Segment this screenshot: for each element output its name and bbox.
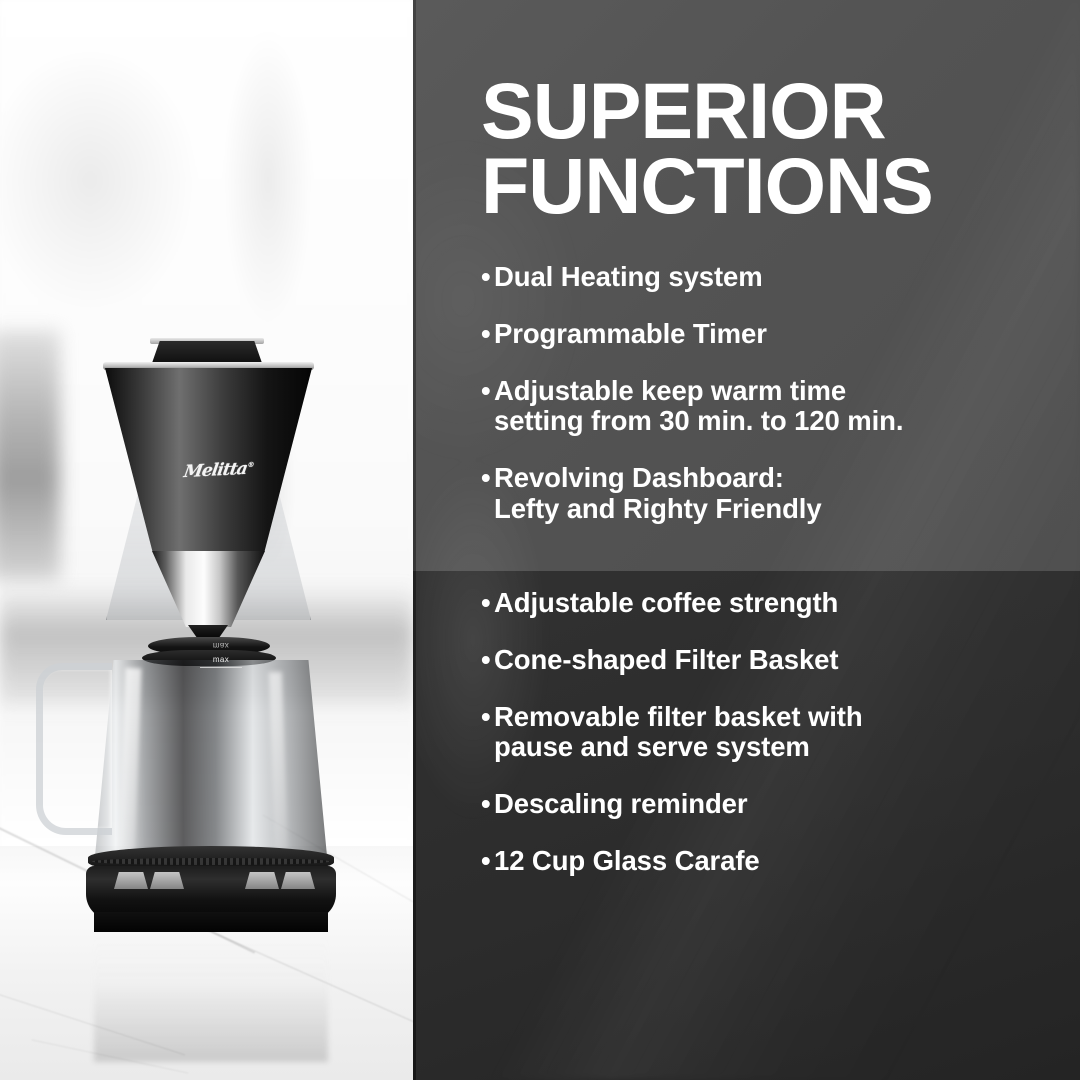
feature-list-item-line: Adjustable keep warm time bbox=[494, 376, 1061, 407]
feature-list-item-line: pause and serve system bbox=[494, 732, 1061, 763]
product-brand-logo-text: Melitta bbox=[182, 459, 248, 482]
carafe-handle bbox=[36, 663, 112, 835]
product-reflection bbox=[94, 932, 328, 1062]
page-title: SUPERIOR FUNCTIONS bbox=[481, 73, 1041, 223]
product-brand-logo-mark: ® bbox=[247, 460, 254, 469]
carafe-max-line bbox=[200, 667, 242, 668]
bullet-dot-icon: • bbox=[481, 588, 494, 619]
feature-list-item: •Cone-shaped Filter Basket bbox=[481, 645, 1061, 676]
control-button bbox=[245, 872, 279, 889]
feature-list-group-1: •Dual Heating system•Programmable Timer•… bbox=[481, 262, 1061, 525]
features-panel: SUPERIOR FUNCTIONS •Dual Heating system•… bbox=[413, 0, 1080, 1080]
control-button bbox=[150, 872, 184, 889]
control-button bbox=[114, 872, 148, 889]
bullet-dot-icon: • bbox=[481, 376, 494, 407]
feature-list-item-text: Dual Heating system bbox=[494, 262, 1061, 293]
coffee-maker: Melitta® max max bbox=[0, 0, 413, 1080]
carafe-max-marking: max bbox=[200, 655, 242, 664]
base-foot bbox=[94, 912, 328, 932]
feature-list-item-line: Lefty and Righty Friendly bbox=[494, 494, 1061, 525]
feature-list-item-text: Cone-shaped Filter Basket bbox=[494, 645, 1061, 676]
bullet-dot-icon: • bbox=[481, 645, 494, 676]
bullet-dot-icon: • bbox=[481, 262, 494, 293]
feature-list-item-line: 12 Cup Glass Carafe bbox=[494, 846, 1061, 877]
bullet-dot-icon: • bbox=[481, 463, 494, 494]
product-feature-poster: Melitta® max max bbox=[0, 0, 1080, 1080]
features-content: SUPERIOR FUNCTIONS •Dual Heating system•… bbox=[413, 0, 1080, 1080]
feature-list-item-text: 12 Cup Glass Carafe bbox=[494, 846, 1061, 877]
feature-list-item-text: Removable filter basket withpause and se… bbox=[494, 702, 1061, 764]
page-title-line-2: FUNCTIONS bbox=[481, 148, 1041, 223]
feature-list-group-2: •Adjustable coffee strength•Cone-shaped … bbox=[481, 588, 1061, 877]
feature-list-item-text: Adjustable keep warm timesetting from 30… bbox=[494, 376, 1061, 438]
feature-list-item-line: Adjustable coffee strength bbox=[494, 588, 1061, 619]
feature-list-item-text: Programmable Timer bbox=[494, 319, 1061, 350]
feature-list-item: •12 Cup Glass Carafe bbox=[481, 846, 1061, 877]
feature-list-item-line: Dual Heating system bbox=[494, 262, 1061, 293]
base-ridge bbox=[92, 858, 330, 865]
feature-list-item-text: Adjustable coffee strength bbox=[494, 588, 1061, 619]
product-brand-logo: Melitta® bbox=[182, 458, 267, 486]
feature-list-item-line: setting from 30 min. to 120 min. bbox=[494, 406, 1061, 437]
feature-list-item-line: Revolving Dashboard: bbox=[494, 463, 1061, 494]
control-button bbox=[281, 872, 315, 889]
feature-list-item: •Descaling reminder bbox=[481, 789, 1061, 820]
feature-list-item: •Dual Heating system bbox=[481, 262, 1061, 293]
bullet-dot-icon: • bbox=[481, 789, 494, 820]
feature-list-item-line: Cone-shaped Filter Basket bbox=[494, 645, 1061, 676]
carafe-max-marking-reflection: max bbox=[200, 641, 242, 650]
feature-list-item: •Revolving Dashboard:Lefty and Righty Fr… bbox=[481, 463, 1061, 525]
page-title-line-1: SUPERIOR bbox=[481, 73, 1041, 148]
feature-list-item-text: Revolving Dashboard:Lefty and Righty Fri… bbox=[494, 463, 1061, 525]
feature-list-item: •Adjustable coffee strength bbox=[481, 588, 1061, 619]
feature-list-item: •Programmable Timer bbox=[481, 319, 1061, 350]
feature-list-item-line: Programmable Timer bbox=[494, 319, 1061, 350]
bullet-dot-icon: • bbox=[481, 319, 494, 350]
feature-list-item: •Removable filter basket withpause and s… bbox=[481, 702, 1061, 764]
feature-list-item-line: Removable filter basket with bbox=[494, 702, 1061, 733]
filter-lid-tab bbox=[152, 341, 262, 363]
feature-list-item-line: Descaling reminder bbox=[494, 789, 1061, 820]
product-image-panel: Melitta® max max bbox=[0, 0, 413, 1080]
bullet-dot-icon: • bbox=[481, 846, 494, 877]
bullet-dot-icon: • bbox=[481, 702, 494, 733]
feature-list-item: •Adjustable keep warm timesetting from 3… bbox=[481, 376, 1061, 438]
feature-list-item-text: Descaling reminder bbox=[494, 789, 1061, 820]
